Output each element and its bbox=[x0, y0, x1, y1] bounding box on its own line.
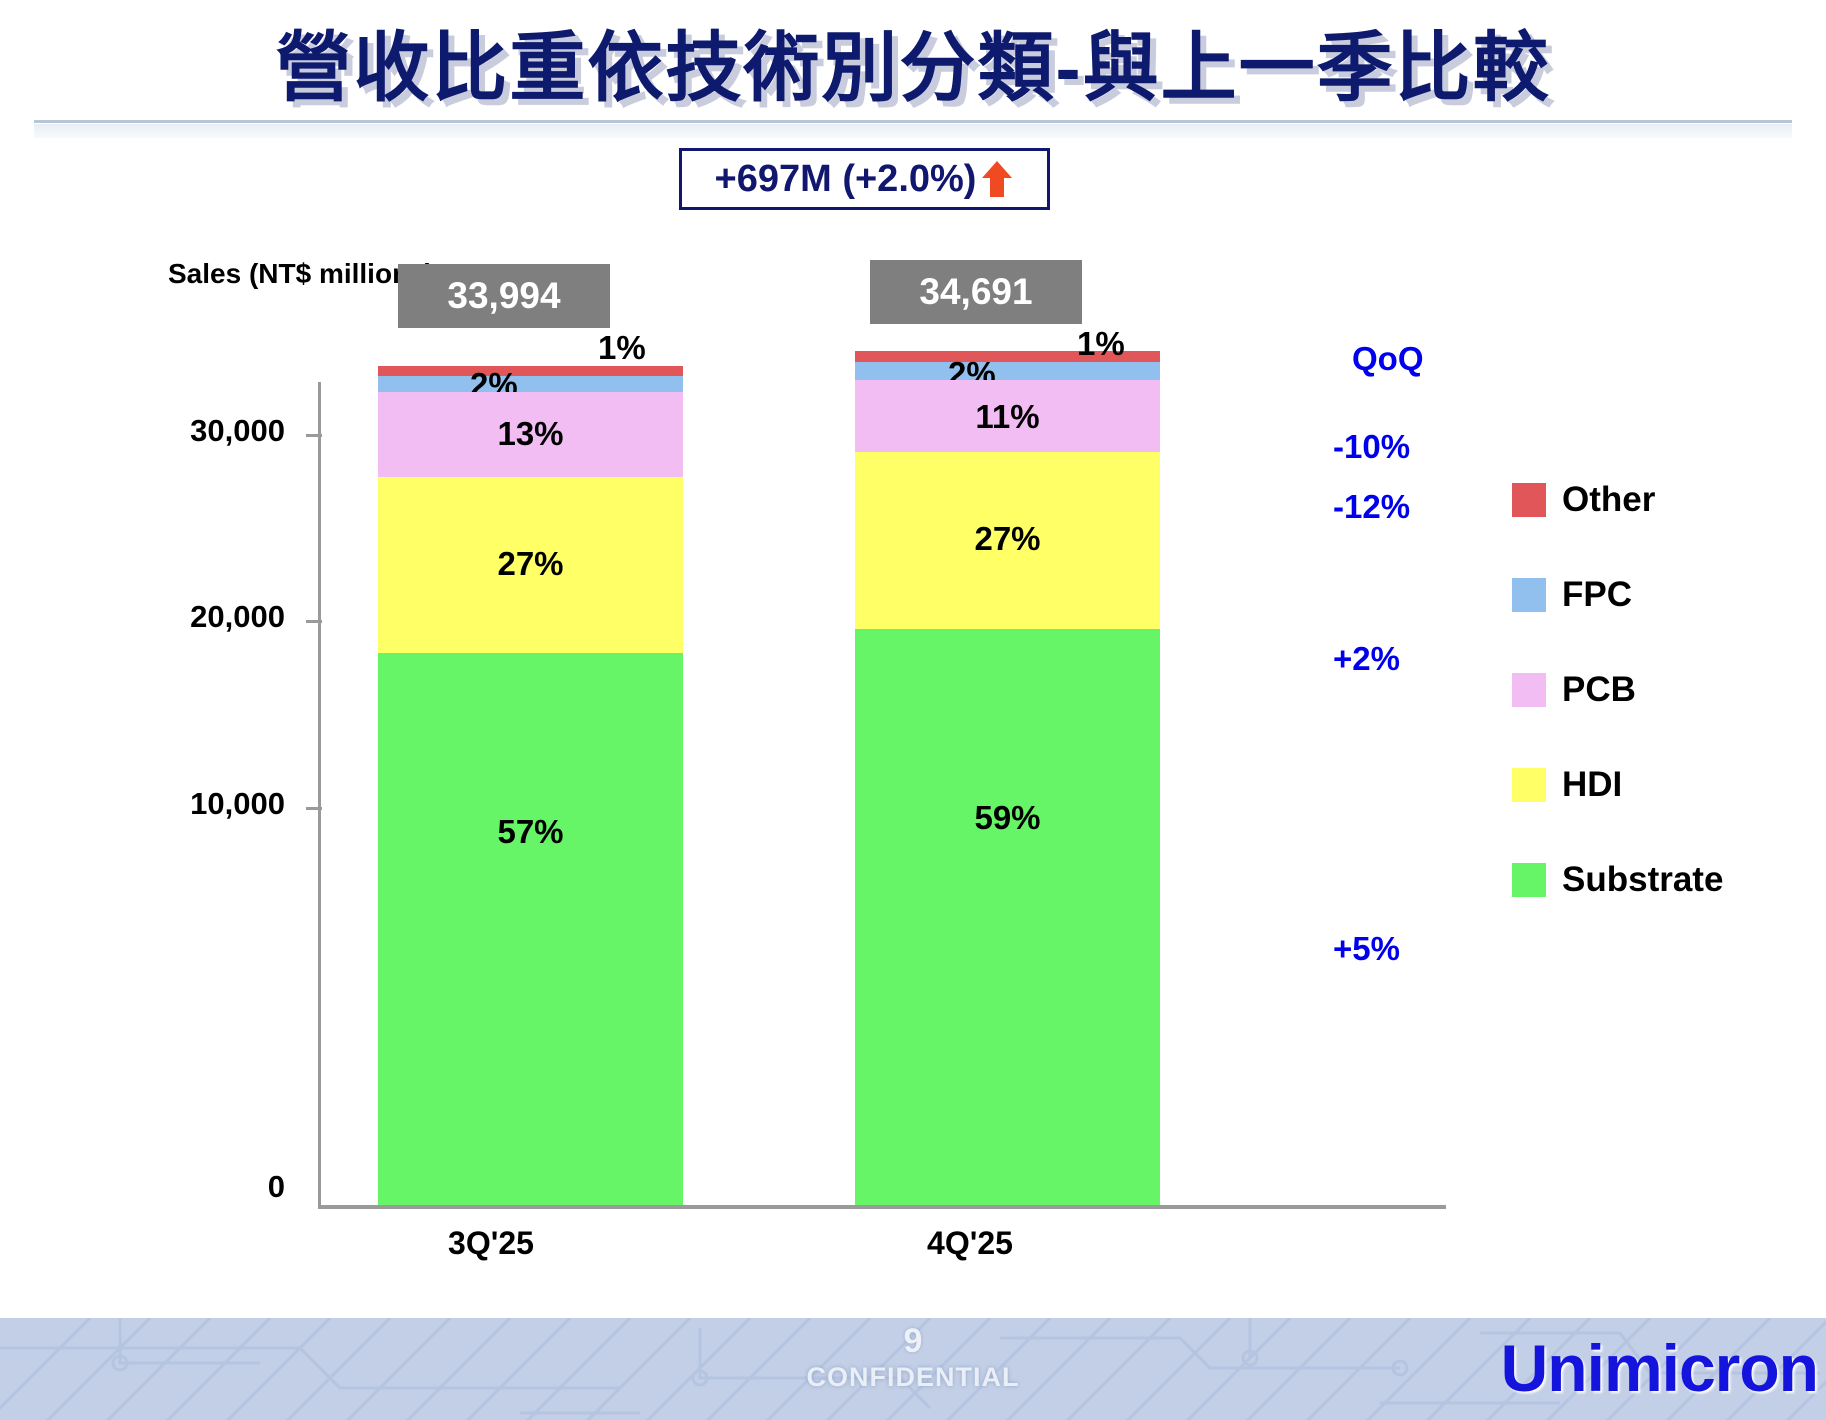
legend-swatch-icon bbox=[1512, 578, 1546, 612]
qoq-value-substrate: +5% bbox=[1333, 930, 1400, 968]
legend-swatch-icon bbox=[1512, 483, 1546, 517]
legend-swatch-icon bbox=[1512, 768, 1546, 802]
y-axis-tick bbox=[306, 620, 322, 623]
y-axis-tick-label: 10,000 bbox=[55, 786, 285, 822]
legend-item-label: Other bbox=[1562, 480, 1655, 520]
qoq-value-hdi: +2% bbox=[1333, 640, 1400, 678]
y-axis-tick-label: 20,000 bbox=[55, 599, 285, 635]
legend-swatch-icon bbox=[1512, 863, 1546, 897]
legend-item-label: PCB bbox=[1562, 670, 1636, 710]
legend-item-pcb[interactable]: PCB bbox=[1512, 670, 1636, 710]
legend-item-label: HDI bbox=[1562, 765, 1622, 805]
bar-total-plaque: 34,691 bbox=[870, 260, 1082, 324]
x-axis-label: 4Q'25 bbox=[800, 1225, 1140, 1262]
qoq-value-pcb: -12% bbox=[1333, 488, 1410, 526]
y-axis-tick bbox=[306, 807, 322, 810]
bar-segment-fpc[interactable] bbox=[378, 376, 683, 392]
bar-segment-label: 13% bbox=[378, 415, 683, 453]
x-axis-label: 3Q'25 bbox=[321, 1225, 661, 1262]
bar-segment-label: 27% bbox=[855, 520, 1160, 558]
bar-total-value: 34,691 bbox=[919, 271, 1032, 313]
bar-segment-label: 59% bbox=[855, 799, 1160, 837]
y-axis-title: Sales (NT$ millions) bbox=[168, 258, 434, 290]
legend-swatch-icon bbox=[1512, 673, 1546, 707]
bar-segment-label: 1% bbox=[1077, 325, 1125, 363]
bar-segment-label: 1% bbox=[598, 329, 646, 367]
legend-item-other[interactable]: Other bbox=[1512, 480, 1655, 520]
bar-total-plaque: 33,994 bbox=[398, 264, 610, 328]
bar-segment-fpc[interactable] bbox=[855, 362, 1160, 380]
y-axis-line bbox=[318, 382, 321, 1208]
qoq-value-other: -10% bbox=[1333, 428, 1410, 466]
bar-segment-other[interactable] bbox=[378, 366, 683, 376]
bar-segment-substrate[interactable] bbox=[855, 629, 1160, 1205]
bar-segment-label: 11% bbox=[855, 398, 1160, 436]
bar-segment-label: 27% bbox=[378, 545, 683, 583]
legend-item-fpc[interactable]: FPC bbox=[1512, 575, 1632, 615]
unimicron-logo: Unimicron bbox=[1501, 1330, 1818, 1406]
bar-segment-label: 57% bbox=[378, 813, 683, 851]
y-axis-tick bbox=[306, 434, 322, 437]
legend-item-hdi[interactable]: HDI bbox=[1512, 765, 1622, 805]
legend-item-label: FPC bbox=[1562, 575, 1632, 615]
y-axis-tick-label: 0 bbox=[55, 1169, 285, 1205]
legend-item-label: Substrate bbox=[1562, 860, 1723, 900]
x-axis-line bbox=[318, 1205, 1446, 1209]
legend-item-substrate[interactable]: Substrate bbox=[1512, 860, 1723, 900]
bar-total-value: 33,994 bbox=[447, 275, 560, 317]
bar-segment-substrate[interactable] bbox=[378, 653, 683, 1205]
y-axis-tick-label: 30,000 bbox=[55, 413, 285, 449]
qoq-column-header: QoQ bbox=[1352, 340, 1424, 378]
stacked-bar-chart: Sales (NT$ millions) 30,00020,00010,0000… bbox=[0, 0, 1826, 1290]
